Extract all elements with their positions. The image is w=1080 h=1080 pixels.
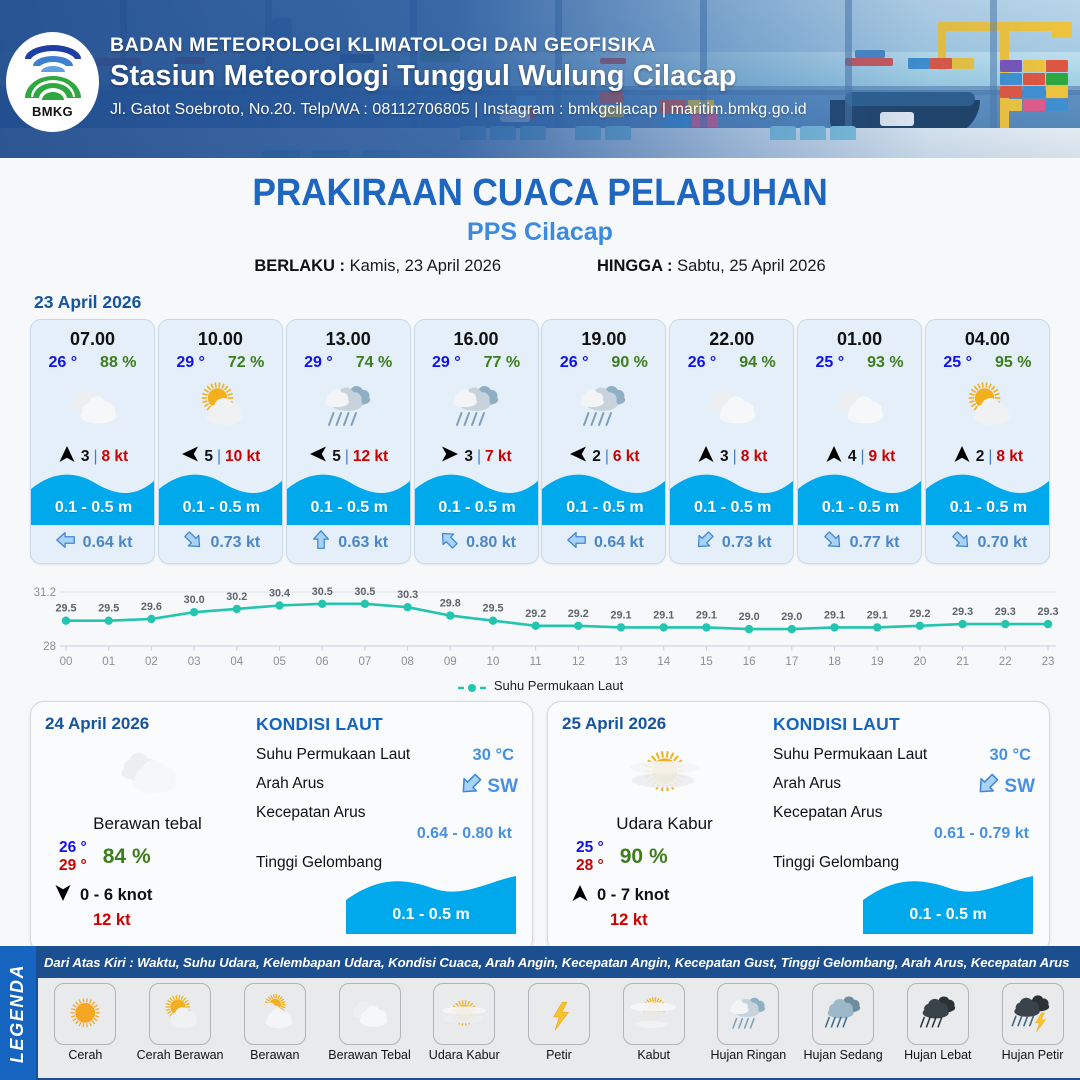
card-current-row: 0.73 kt	[670, 529, 794, 556]
card-time: 07.00	[31, 329, 154, 350]
panel-temp-col: 26 °29 °	[59, 839, 87, 875]
card-weather-hujan-ringan-icon	[415, 376, 538, 438]
svg-text:29.1: 29.1	[696, 609, 717, 621]
card-gust-speed: 8 kt	[996, 448, 1023, 466]
card-wind-separator: |	[217, 448, 221, 466]
legend-hujan-lebat-icon	[907, 983, 969, 1045]
forecast-card[interactable]: 22.0026 °94 % 3|8 kt0.1 - 0.5 m 0.73 kt	[669, 319, 794, 564]
svg-text:04: 04	[230, 656, 243, 668]
panel-current-speed-label: Kecepatan Arus	[256, 804, 518, 822]
panel-sst-label: Suhu Permukaan Laut	[256, 746, 410, 763]
panel-wave-height: 0.1 - 0.5 m	[863, 906, 1033, 924]
legend-item-label: Berawan Tebal	[328, 1048, 410, 1062]
panel-wave-graphic: 0.1 - 0.5 m	[773, 876, 1035, 942]
card-weather-berawan-tebal-icon	[670, 376, 793, 438]
legend-item-label: Udara Kabur	[429, 1048, 500, 1062]
card-current-speed: 0.73 kt	[210, 534, 260, 552]
panel-condition: Berawan tebal	[45, 814, 250, 834]
card-current-speed: 0.64 kt	[83, 534, 133, 552]
valid-until-label: HINGGA :	[597, 257, 672, 275]
legend-item-label: Petir	[546, 1048, 572, 1062]
svg-text:30.0: 30.0	[184, 594, 205, 606]
card-gust-speed: 10 kt	[225, 448, 260, 466]
panel-temp-row: 26 °29 °84 %	[45, 839, 250, 875]
card-temperature: 29 °	[176, 354, 205, 372]
card-current-speed: 0.73 kt	[722, 534, 772, 552]
panel-sst-value: 30 °C	[990, 746, 1031, 765]
card-gust-speed: 12 kt	[353, 448, 388, 466]
card-temp-hum-row: 26 °94 %	[670, 354, 793, 372]
card-humidity: 95 %	[995, 354, 1031, 372]
svg-text:29.2: 29.2	[909, 608, 930, 620]
panel-current-speed-value: 0.61 - 0.79 kt	[773, 825, 1035, 843]
svg-text:30.5: 30.5	[354, 586, 375, 598]
card-humidity: 94 %	[739, 354, 775, 372]
legend-item-label: Hujan Petir	[1002, 1048, 1064, 1062]
legend-side-tab: LEGENDA	[0, 946, 36, 1080]
svg-text:29.5: 29.5	[55, 603, 76, 615]
card-wave-height: 0.1 - 0.5 m	[670, 499, 794, 517]
svg-text:17: 17	[785, 656, 798, 668]
legend-item: Kabut	[610, 983, 698, 1062]
bmkg-logo-arcs-icon	[23, 45, 83, 75]
legend-item-label: Hujan Lebat	[904, 1048, 971, 1062]
forecast-card[interactable]: 19.0026 °90 % 2|6 kt0.1 - 0.5 m 0.64 kt	[541, 319, 666, 564]
card-wind-row: 3|8 kt	[31, 444, 154, 469]
wind-direction-arrow-icon	[568, 444, 588, 469]
svg-text:12: 12	[572, 656, 585, 668]
card-current-row: 0.64 kt	[31, 529, 155, 556]
panel-wind-range: 0 - 7 knot	[597, 886, 669, 905]
card-temperature: 29 °	[432, 354, 461, 372]
card-wave-height: 0.1 - 0.5 m	[287, 499, 411, 517]
card-current-row: 0.70 kt	[926, 529, 1050, 556]
legend-berawan-tebal-icon	[339, 983, 401, 1045]
card-temp-hum-row: 25 °93 %	[798, 354, 921, 372]
page-title: PRAKIRAAN CUACA PELABUHAN	[38, 172, 1042, 215]
panel-gust: 12 kt	[562, 911, 767, 930]
legend-side-label: LEGENDA	[8, 963, 29, 1062]
card-current-row: 0.77 kt	[798, 529, 922, 556]
chart-legend-label: Suhu Permukaan Laut	[494, 678, 623, 693]
card-wind-row: 2|8 kt	[926, 444, 1049, 469]
panel-current-dir-label: Arah Arus	[256, 775, 324, 792]
card-weather-hujan-ringan-icon	[542, 376, 665, 438]
panel-current-speed-value: 0.64 - 0.80 kt	[256, 825, 518, 843]
card-temperature: 25 °	[943, 354, 972, 372]
panel-wind-row: 0 - 6 knot	[45, 883, 250, 908]
card-humidity: 77 %	[484, 354, 520, 372]
svg-text:30.2: 30.2	[226, 591, 247, 603]
svg-text:29.2: 29.2	[525, 608, 546, 620]
card-wind-separator: |	[605, 448, 609, 466]
contact-info: Jl. Gatot Soebroto, No.20. Telp/WA : 081…	[110, 101, 807, 119]
current-direction-arrow-icon	[182, 529, 204, 556]
panel-wind-direction-arrow-icon	[570, 883, 590, 908]
card-temp-hum-row: 29 °72 %	[159, 354, 282, 372]
panel-sst-item: Suhu Permukaan Laut30 °C	[256, 746, 518, 764]
card-gust-speed: 7 kt	[485, 448, 512, 466]
forecast-card[interactable]: 13.0029 °74 % 5|12 kt0.1 - 0.5 m 0.63 kt	[286, 319, 411, 564]
panel-current-dir-item: Arah Arus SW	[773, 775, 1035, 793]
panel-temp-max: 28 °	[576, 857, 604, 875]
panel-weather-berawan-tebal-icon	[45, 736, 250, 810]
legend-item: Hujan Lebat	[894, 983, 982, 1062]
legend-udara-kabur-icon	[433, 983, 495, 1045]
card-temp-hum-row: 29 °74 %	[287, 354, 410, 372]
legend-item: Berawan	[231, 983, 319, 1062]
card-temp-hum-row: 26 °90 %	[542, 354, 665, 372]
card-wind-row: 2|6 kt	[542, 444, 665, 469]
card-wind-row: 5|12 kt	[287, 444, 410, 469]
card-wind-separator: |	[733, 448, 737, 466]
legend-cerah-berawan-icon	[149, 983, 211, 1045]
current-direction-arrow-icon	[55, 529, 77, 556]
svg-text:29.5: 29.5	[98, 603, 119, 615]
svg-text:18: 18	[828, 656, 841, 668]
page-header: BMKG BADAN METEOROLOGI KLIMATOLOGI DAN G…	[0, 0, 1080, 158]
valid-from: BERLAKU : Kamis, 23 April 2026	[254, 257, 501, 276]
legend-hujan-sedang-icon	[812, 983, 874, 1045]
panel-date: 25 April 2026	[562, 714, 767, 734]
card-wave-height: 0.1 - 0.5 m	[542, 499, 666, 517]
svg-text:14: 14	[657, 656, 670, 668]
header-text-block: BADAN METEOROLOGI KLIMATOLOGI DAN GEOFIS…	[110, 34, 807, 119]
current-direction-arrow-icon	[950, 529, 972, 556]
card-gust-speed: 8 kt	[741, 448, 768, 466]
panel-sst-item: Suhu Permukaan Laut30 °C	[773, 746, 1035, 764]
panel-wave-item: Tinggi Gelombang 0.1 - 0.5 m	[773, 854, 1035, 942]
card-temp-hum-row: 29 °77 %	[415, 354, 538, 372]
card-wind-separator: |	[345, 448, 349, 466]
panel-current-dir-item: Arah Arus SW	[256, 775, 518, 793]
agency-name: BADAN METEOROLOGI KLIMATOLOGI DAN GEOFIS…	[110, 34, 807, 57]
wind-direction-arrow-icon	[696, 444, 716, 469]
current-direction-arrow-icon	[438, 529, 460, 556]
card-wind-separator: |	[93, 448, 97, 466]
svg-text:29.1: 29.1	[867, 609, 888, 621]
card-temp-hum-row: 26 °88 %	[31, 354, 154, 372]
svg-text:29.1: 29.1	[653, 609, 674, 621]
legend-item-label: Kabut	[637, 1048, 670, 1062]
legend-item: Cerah	[41, 983, 129, 1062]
legend-note: Dari Atas Kiri : Waktu, Suhu Udara, Kele…	[44, 955, 1074, 970]
card-humidity: 90 %	[611, 354, 647, 372]
card-wind-degree: 5	[332, 448, 341, 466]
sst-chart: 31.2280001020304050607080910111213141516…	[18, 580, 1062, 676]
legend-hujan-petir-icon	[1002, 983, 1064, 1045]
svg-text:29.5: 29.5	[482, 603, 503, 615]
panel-current-direction-arrow-icon	[458, 771, 484, 802]
svg-text:10: 10	[487, 656, 500, 668]
card-gust-speed: 8 kt	[101, 448, 128, 466]
valid-until-value: Sabtu, 25 April 2026	[677, 257, 826, 275]
legend-item-label: Cerah Berawan	[137, 1048, 224, 1062]
forecast-card[interactable]: 01.0025 °93 % 4|9 kt0.1 - 0.5 m 0.77 kt	[797, 319, 922, 564]
panel-wind-row: 0 - 7 knot	[562, 883, 767, 908]
legend-item: Berawan Tebal	[326, 983, 414, 1062]
card-weather-berawan-tebal-icon	[798, 376, 921, 438]
card-gust-speed: 9 kt	[869, 448, 896, 466]
svg-text:20: 20	[914, 656, 927, 668]
svg-text:29.3: 29.3	[952, 606, 973, 618]
svg-text:29.0: 29.0	[739, 611, 760, 623]
card-weather-hujan-ringan-icon	[287, 376, 410, 438]
bmkg-logo: BMKG	[6, 32, 99, 132]
forecast-card[interactable]: 16.0029 °77 % 3|7 kt0.1 - 0.5 m 0.80 kt	[414, 319, 539, 564]
legend-kabut-icon	[623, 983, 685, 1045]
card-time: 04.00	[926, 329, 1049, 350]
card-weather-cerah-berawan-icon	[926, 376, 1049, 438]
panel-current-dir-value-row: SW	[975, 771, 1035, 802]
legend-item: Hujan Petir	[989, 983, 1077, 1062]
panel-sst-value: 30 °C	[473, 746, 514, 765]
panel-temp-min: 25 °	[576, 839, 604, 857]
wind-direction-arrow-icon	[440, 444, 460, 469]
card-wind-degree: 4	[848, 448, 857, 466]
card-current-speed: 0.64 kt	[594, 534, 644, 552]
panel-left: 24 April 2026 Berawan tebal26 °29 °84 % …	[45, 714, 250, 940]
forecast-card[interactable]: 04.0025 °95 % 2|8 kt0.1 - 0.5 m 0.70 kt	[925, 319, 1050, 564]
svg-text:19: 19	[871, 656, 884, 668]
panel-sea-title: KONDISI LAUT	[773, 714, 1035, 735]
card-wave-height: 0.1 - 0.5 m	[926, 499, 1050, 517]
daily-forecast-panel[interactable]: 24 April 2026 Berawan tebal26 °29 °84 % …	[30, 701, 533, 953]
wind-direction-arrow-icon	[308, 444, 328, 469]
panel-wave-height: 0.1 - 0.5 m	[346, 906, 516, 924]
svg-text:02: 02	[145, 656, 158, 668]
svg-text:07: 07	[358, 656, 371, 668]
panel-date: 24 April 2026	[45, 714, 250, 734]
panel-current-dir-value-row: SW	[458, 771, 518, 802]
legend-item: Udara Kabur	[420, 983, 508, 1062]
card-wind-separator: |	[477, 448, 481, 466]
valid-until: HINGGA : Sabtu, 25 April 2026	[597, 257, 826, 276]
card-wind-separator: |	[988, 448, 992, 466]
card-temp-hum-row: 25 °95 %	[926, 354, 1049, 372]
panel-wind-direction-arrow-icon	[53, 883, 73, 908]
legend-item: Hujan Sedang	[799, 983, 887, 1062]
svg-text:29.1: 29.1	[610, 609, 631, 621]
svg-text:30.3: 30.3	[397, 589, 418, 601]
panel-wave-label: Tinggi Gelombang	[256, 854, 518, 872]
legend-item: Petir	[515, 983, 603, 1062]
panel-wind-range: 0 - 6 knot	[80, 886, 152, 905]
chart-legend: Suhu Permukaan Laut	[0, 678, 1080, 693]
svg-text:03: 03	[188, 656, 201, 668]
panel-left: 25 April 2026 Udara Kabur25 °28 °90 % 0 …	[562, 714, 767, 940]
card-weather-berawan-tebal-icon	[31, 376, 154, 438]
valid-from-label: BERLAKU :	[254, 257, 345, 275]
panel-temp-col: 25 °28 °	[576, 839, 604, 875]
legend-item: Cerah Berawan	[136, 983, 224, 1062]
svg-text:01: 01	[102, 656, 115, 668]
forecast-card[interactable]: 07.0026 °88 % 3|8 kt0.1 - 0.5 m 0.64 kt	[30, 319, 155, 564]
card-time: 01.00	[798, 329, 921, 350]
card-temperature: 29 °	[304, 354, 333, 372]
svg-text:11: 11	[530, 656, 542, 668]
current-direction-arrow-icon	[694, 529, 716, 556]
panel-current-direction-arrow-icon	[975, 771, 1001, 802]
svg-text:29.3: 29.3	[1037, 606, 1058, 618]
svg-text:06: 06	[316, 656, 329, 668]
svg-text:29.0: 29.0	[781, 611, 802, 623]
svg-text:29.6: 29.6	[141, 601, 162, 613]
svg-text:16: 16	[743, 656, 756, 668]
svg-text:23: 23	[1042, 656, 1055, 668]
legend-cerah-icon	[54, 983, 116, 1045]
card-current-speed: 0.63 kt	[338, 534, 388, 552]
svg-text:29.1: 29.1	[824, 609, 845, 621]
current-direction-arrow-icon	[310, 529, 332, 556]
legend-item-label: Berawan	[250, 1048, 299, 1062]
card-temperature: 26 °	[688, 354, 717, 372]
card-wind-degree: 2	[976, 448, 985, 466]
card-wind-degree: 5	[204, 448, 213, 466]
svg-text:29.2: 29.2	[568, 608, 589, 620]
card-time: 13.00	[287, 329, 410, 350]
svg-text:21: 21	[956, 656, 969, 668]
panel-weather-udara-kabur-icon	[562, 736, 767, 810]
svg-text:22: 22	[999, 656, 1012, 668]
panel-current-speed-label: Kecepatan Arus	[773, 804, 1035, 822]
card-time: 19.00	[542, 329, 665, 350]
card-time: 22.00	[670, 329, 793, 350]
svg-text:09: 09	[444, 656, 457, 668]
current-direction-arrow-icon	[822, 529, 844, 556]
station-name: Stasiun Meteorologi Tunggul Wulung Cilac…	[110, 60, 807, 93]
panel-current-speed-item: Kecepatan Arus0.64 - 0.80 kt	[256, 804, 518, 843]
card-gust-speed: 6 kt	[613, 448, 640, 466]
panel-sst-label: Suhu Permukaan Laut	[773, 746, 927, 763]
daily-forecast-panel[interactable]: 25 April 2026 Udara Kabur25 °28 °90 % 0 …	[547, 701, 1050, 953]
wind-direction-arrow-icon	[952, 444, 972, 469]
card-current-row: 0.73 kt	[159, 529, 283, 556]
wind-direction-arrow-icon	[824, 444, 844, 469]
card-wind-row: 3|8 kt	[670, 444, 793, 469]
legend-item-label: Hujan Ringan	[711, 1048, 787, 1062]
legend-hujan-ringan-icon	[717, 983, 779, 1045]
svg-text:13: 13	[615, 656, 628, 668]
forecast-card[interactable]: 10.0029 °72 % 5|10 kt0.1 - 0.5 m 0.73 kt	[158, 319, 283, 564]
card-current-row: 0.80 kt	[415, 529, 539, 556]
svg-text:29.3: 29.3	[995, 606, 1016, 618]
panel-humidity: 90 %	[620, 845, 668, 869]
svg-text:05: 05	[273, 656, 286, 668]
panel-condition: Udara Kabur	[562, 814, 767, 834]
panel-wave-item: Tinggi Gelombang 0.1 - 0.5 m	[256, 854, 518, 942]
card-wind-row: 5|10 kt	[159, 444, 282, 469]
forecast-day-label: 23 April 2026	[34, 292, 1080, 313]
panel-current-dir-value: SW	[487, 776, 518, 798]
title-section: PRAKIRAAN CUACA PELABUHAN PPS Cilacap BE…	[0, 158, 1080, 276]
card-current-speed: 0.77 kt	[850, 534, 900, 552]
forecast-card-list: 07.0026 °88 % 3|8 kt0.1 - 0.5 m 0.64 kt1…	[0, 319, 1080, 564]
panel-humidity: 84 %	[103, 845, 151, 869]
legend-item-label: Hujan Sedang	[803, 1048, 882, 1062]
card-wave-height: 0.1 - 0.5 m	[31, 499, 155, 517]
panel-temp-max: 29 °	[59, 857, 87, 875]
card-time: 16.00	[415, 329, 538, 350]
current-direction-arrow-icon	[566, 529, 588, 556]
svg-text:28: 28	[43, 641, 56, 653]
card-temperature: 26 °	[48, 354, 77, 372]
panel-temp-row: 25 °28 °90 %	[562, 839, 767, 875]
card-wave-height: 0.1 - 0.5 m	[798, 499, 922, 517]
card-temperature: 26 °	[560, 354, 589, 372]
panel-sea-conditions: KONDISI LAUTSuhu Permukaan Laut30 °CArah…	[250, 714, 518, 940]
card-wind-degree: 3	[81, 448, 90, 466]
panel-sea-title: KONDISI LAUT	[256, 714, 518, 735]
card-wave-height: 0.1 - 0.5 m	[159, 499, 283, 517]
chart-legend-marker-icon	[457, 681, 487, 691]
svg-text:30.4: 30.4	[269, 588, 290, 600]
card-current-speed: 0.80 kt	[466, 534, 516, 552]
legend-item: Hujan Ringan	[704, 983, 792, 1062]
svg-text:31.2: 31.2	[34, 587, 56, 599]
panel-current-speed-item: Kecepatan Arus0.61 - 0.79 kt	[773, 804, 1035, 843]
card-temperature: 25 °	[816, 354, 845, 372]
card-wind-row: 4|9 kt	[798, 444, 921, 469]
card-wind-degree: 3	[720, 448, 729, 466]
panel-gust: 12 kt	[45, 911, 250, 930]
valid-from-value: Kamis, 23 April 2026	[350, 257, 501, 275]
card-humidity: 93 %	[867, 354, 903, 372]
svg-text:30.5: 30.5	[312, 586, 333, 598]
panel-sea-conditions: KONDISI LAUTSuhu Permukaan Laut30 °CArah…	[767, 714, 1035, 940]
card-current-row: 0.63 kt	[287, 529, 411, 556]
panel-current-dir-value: SW	[1004, 776, 1035, 798]
legend-berawan-icon	[244, 983, 306, 1045]
wind-direction-arrow-icon	[57, 444, 77, 469]
card-current-row: 0.64 kt	[542, 529, 666, 556]
card-humidity: 88 %	[100, 354, 136, 372]
svg-text:00: 00	[60, 656, 73, 668]
page-subtitle: PPS Cilacap	[0, 218, 1080, 247]
card-wind-separator: |	[861, 448, 865, 466]
legend-strip: LEGENDA Dari Atas Kiri : Waktu, Suhu Uda…	[0, 946, 1080, 1080]
wind-direction-arrow-icon	[180, 444, 200, 469]
sst-chart-svg: 31.2280001020304050607080910111213141516…	[18, 580, 1062, 676]
bmkg-logo-text: BMKG	[32, 104, 73, 119]
legend-petir-icon	[528, 983, 590, 1045]
legend-item-label: Cerah	[68, 1048, 102, 1062]
legend-item-list: Cerah Cerah Berawan Berawan Berawan	[38, 978, 1080, 1078]
panel-current-dir-label: Arah Arus	[773, 775, 841, 792]
panel-wave-label: Tinggi Gelombang	[773, 854, 1035, 872]
validity-row: BERLAKU : Kamis, 23 April 2026 HINGGA : …	[0, 257, 1080, 276]
card-current-speed: 0.70 kt	[978, 534, 1028, 552]
card-wind-degree: 3	[464, 448, 473, 466]
bmkg-logo-green-icon	[24, 76, 82, 102]
card-weather-cerah-berawan-icon	[159, 376, 282, 438]
svg-text:29.8: 29.8	[440, 598, 461, 610]
svg-text:08: 08	[401, 656, 414, 668]
card-wind-row: 3|7 kt	[415, 444, 538, 469]
daily-panel-list: 24 April 2026 Berawan tebal26 °29 °84 % …	[0, 693, 1080, 953]
svg-text:15: 15	[700, 656, 713, 668]
card-wave-height: 0.1 - 0.5 m	[415, 499, 539, 517]
card-time: 10.00	[159, 329, 282, 350]
card-wind-degree: 2	[592, 448, 601, 466]
card-humidity: 72 %	[228, 354, 264, 372]
panel-temp-min: 26 °	[59, 839, 87, 857]
card-humidity: 74 %	[356, 354, 392, 372]
panel-wave-graphic: 0.1 - 0.5 m	[256, 876, 518, 942]
